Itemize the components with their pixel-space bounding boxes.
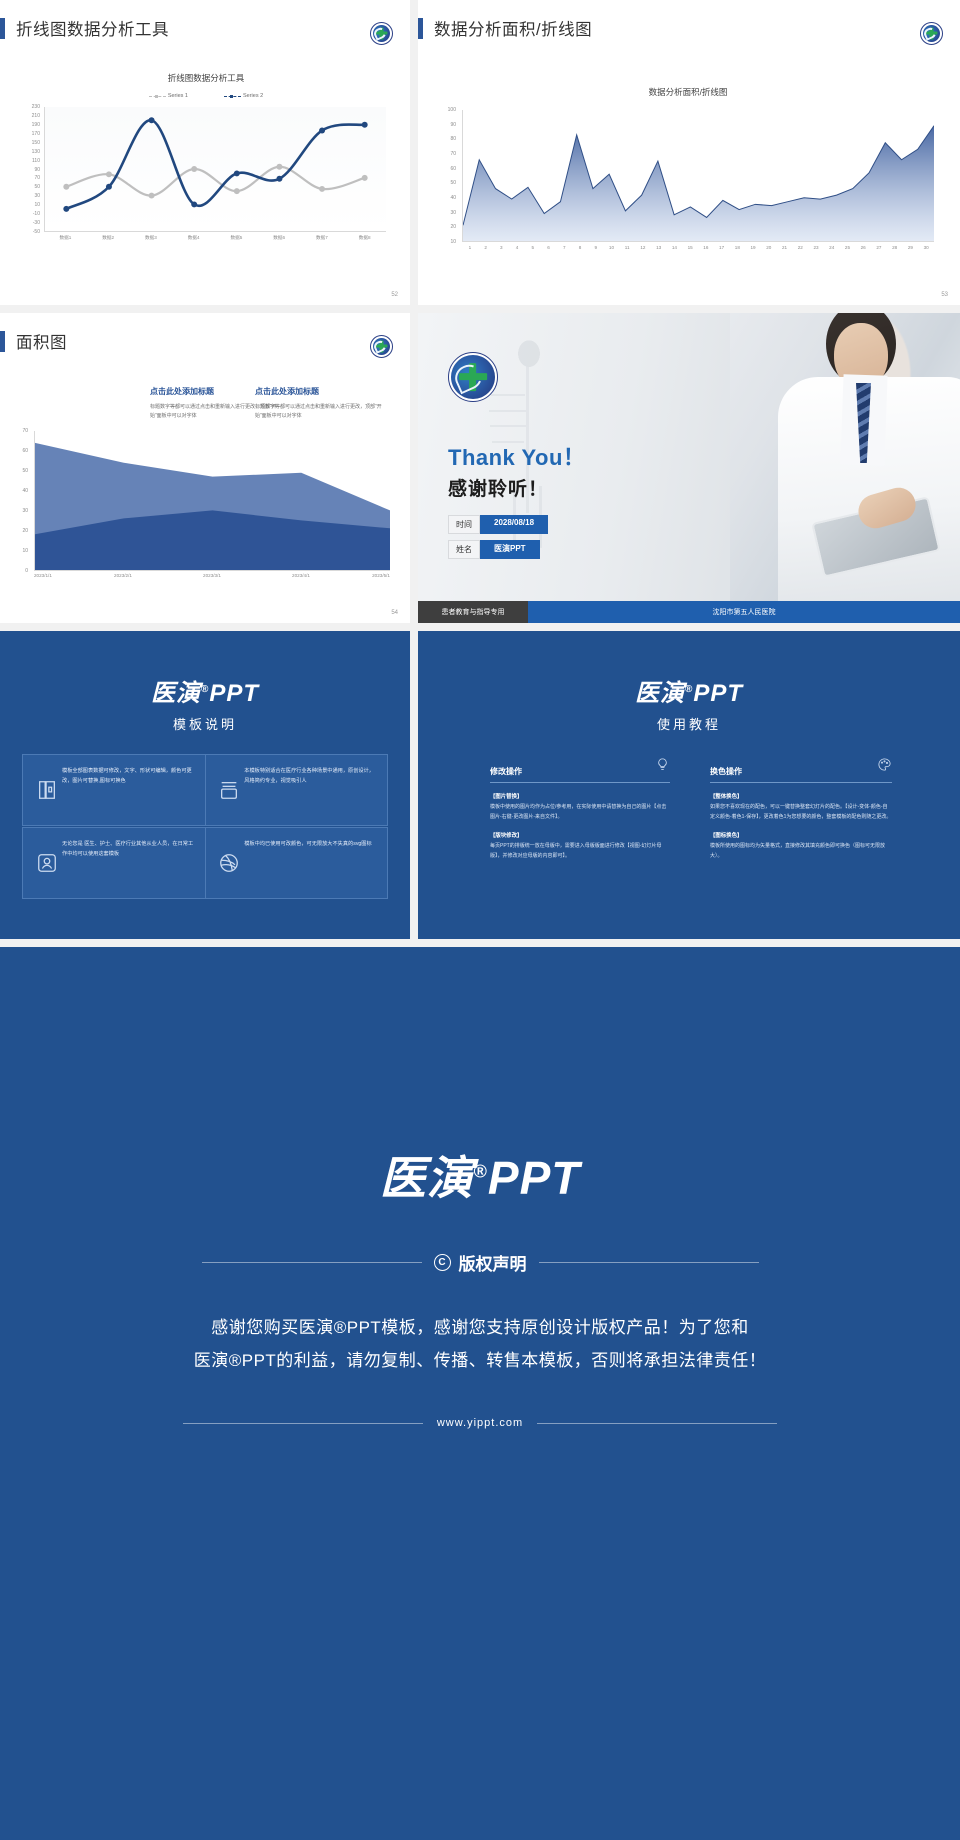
x-tick-label: 27 [876,245,881,250]
y-tick-label: 170 [32,131,40,137]
line-plot: 2302101901701501301109070503010-10-30-50… [20,107,392,247]
copyright-heading-row: C 版权声明 [0,1250,960,1275]
bulb-icon [655,757,670,777]
tutorial-section-heading: 【版块修改】 [490,831,670,839]
x-tick-label: 25 [845,245,850,250]
x-tick-label: 7 [563,245,566,250]
legend-swatch-icon [149,96,166,97]
slide-52-header: 折线图数据分析工具 [0,0,410,40]
x-tick-label: 23 [813,245,818,250]
y-tick-label: 150 [32,140,40,146]
tutorial-section: 【图标换色】 模板所使用的图标均为矢量格式，直接修改其填充颜色即可换色（图标可无… [710,831,892,861]
hospital-logo-icon [448,352,498,402]
x-tick-label: 11 [625,245,630,250]
legend-label: Series 2 [243,93,263,99]
stacked-area-chart: 706050403020100 2023/1/12023/2/12023/3/1… [8,423,398,603]
x-tick-label: 3 [500,245,503,250]
y-tick-label: 30 [34,193,40,199]
y-tick-label: -50 [33,229,40,235]
thank-you-chinese: 感谢聆听！ [448,474,585,501]
slide-number: 53 [941,292,948,298]
brand-name: 医演®PPT [151,680,259,707]
x-tick-label: 1 [469,245,472,250]
y-tick-label: 40 [450,195,456,201]
y-tick-label: 40 [22,488,28,494]
legend-label: Series 1 [168,93,188,99]
y-tick-label: 70 [22,428,28,434]
field-name: 姓名 医演PPT [448,540,548,559]
title-accent-bar [0,18,5,39]
x-tick-label: 6 [547,245,550,250]
x-tick-label: 数据4 [188,235,200,241]
description-block-2: 点击此处添加标题 标题数字等都可以通过点击和重新输入进行更改，顶部“开始”面板中… [255,386,390,422]
y-tick-label: 50 [34,184,40,190]
divider-right [537,1423,777,1424]
x-tick-label: 29 [908,245,913,250]
y-tick-label: 30 [22,508,28,514]
slide-line-chart[interactable]: 折线图数据分析工具 折线图数据分析工具 Series 1 Series 2 23… [0,0,410,305]
feature-card-4: 模板中均已使用可改颜色，可无限放大不失真的svg图标 [205,828,387,898]
description-heading: 点击此处添加标题 [255,386,390,397]
x-tick-label: 数据6 [273,235,285,241]
x-tick-label: 24 [829,245,834,250]
y-tick-label: -10 [33,211,40,217]
legend-item-series-2: Series 2 [224,93,263,99]
x-tick-label: 2023/1/1 [34,573,52,578]
x-tick-label: 数据8 [359,235,371,241]
x-tick-label: 数据7 [316,235,328,241]
x-tick-label: 2023/5/1 [372,573,390,578]
y-tick-label: 100 [448,107,456,113]
feature-card-text: 模板全部图表数据可修改，文字、形状可编辑，颜色可更改，图片可替换,图标可换色 [62,766,196,814]
chart-legend: Series 1 Series 2 [20,93,392,99]
copyright-heading-text: 版权声明 [459,1250,527,1275]
brand-lockup: 医演®PPT [418,673,960,708]
field-date: 时间 2028/08/18 [448,515,548,534]
feature-card-3: 无论您是 医生、护士、医疗行业其他从业人员，在日常工作中均可以使用这套模板 [23,828,205,898]
x-tick-label: 21 [782,245,787,250]
chart-title: 折线图数据分析工具 [20,72,392,84]
slide-footer: 患者教育与指导专用 沈阳市第五人民医院 [418,601,960,623]
y-tick-label: 10 [34,202,40,208]
stacked-area-plot: 706050403020100 2023/1/12023/2/12023/3/1… [8,423,398,593]
x-tick-label: 15 [688,245,693,250]
copyright-mark-icon: C [434,1254,451,1271]
y-tick-label: 0 [25,568,28,574]
doctor-photo [730,313,960,623]
x-tick-label: 数据2 [102,235,114,241]
slide-53-header: 数据分析面积/折线图 [418,0,960,40]
palette-icon [877,757,892,777]
x-tick-label: 28 [892,245,897,250]
page-title: 数据分析面积/折线图 [434,16,592,40]
tutorial-section-heading: 【图标换色】 [710,831,892,839]
slide-54-header: 面积图 [0,313,410,353]
copyright-heading: C 版权声明 [434,1250,527,1275]
thank-you-english: Thank You！ [448,440,585,472]
x-tick-label: 20 [766,245,771,250]
user-icon [32,839,62,887]
x-tick-label: 18 [735,245,740,250]
x-tick-label: 8 [579,245,582,250]
thank-you-text-block: Thank You！ 感谢聆听！ [448,440,585,501]
brand-lockup: 医演®PPT [0,673,410,708]
y-tick-label: 50 [450,180,456,186]
copyright-body: 感谢您购买医演®PPT模板，感谢您支持原创设计版权产品！为了您和 医演®PPT的… [0,1311,960,1377]
plot-area [462,110,934,242]
area-series-svg [463,110,934,241]
hospital-logo-icon [920,22,943,45]
footer-right-label: 沈阳市第五人民医院 [528,601,960,623]
slide-thank-you[interactable]: Thank You！ 感谢聆听！ 时间 2028/08/18 姓名 医演PPT … [418,313,960,623]
feature-card-row-1: 模板全部图表数据可修改，文字、形状可编辑，颜色可更改，图片可替换,图标可换色 本… [22,754,388,826]
tutorial-column-recolor: 换色操作 【整体换色】 如果您不喜欢现在的配色，可以一键替换整套幻灯片的配色。【… [710,757,892,861]
field-label: 姓名 [448,540,480,559]
y-tick-label: -30 [33,220,40,226]
x-tick-label: 16 [703,245,708,250]
tutorial-section-body: 每页PPT的排版统一放在母版中，需要进入母版版面进行修改【视图-幻灯片母版】，并… [490,842,670,861]
feature-card-text: 本模板特别适合在医疗行业各种场景中通用，原创设计，风格简约专业，视觉吸引人 [244,766,378,814]
meta-fields: 时间 2028/08/18 姓名 医演PPT [448,509,548,559]
copyright-url-row: www.yippt.com [0,1417,960,1429]
x-tick-label: 4 [516,245,519,250]
tutorial-column-edit: 修改操作 【图片替换】 模板中使用的图片均作为占位/参考用，在实际使用中请替换为… [490,757,670,861]
x-tick-label: 9 [594,245,597,250]
chart-title: 数据分析面积/折线图 [438,86,938,98]
book-icon [32,766,62,814]
x-tick-label: 30 [924,245,929,250]
x-tick-label: 17 [719,245,724,250]
x-tick-label: 10 [609,245,614,250]
tutorial-column-title: 换色操作 [710,766,742,777]
footer-left-label: 患者教育与指导专用 [418,601,528,623]
x-tick-label: 2023/3/1 [203,573,221,578]
field-value: 2028/08/18 [480,515,548,534]
tutorial-section-heading: 【整体换色】 [710,792,892,800]
y-tick-label: 90 [450,122,456,128]
x-axis-labels: 2023/1/12023/2/12023/3/12023/4/12023/5/1 [34,573,390,585]
box-icon [214,766,244,814]
slide-subtitle: 模板说明 [0,714,410,733]
plot-area [34,431,390,571]
slide-template-note[interactable]: 医演®PPT 模板说明 模板全部图表数据可修改，文字、形状可编辑，颜色可更改，图… [0,631,410,939]
slide-area-line-chart[interactable]: 数据分析面积/折线图 数据分析面积/折线图 100908070605040302… [418,0,960,305]
tutorial-section-body: 模板中使用的图片均作为占位/参考用，在实际使用中请替换为自己的图片【点击图片-右… [490,803,670,822]
x-axis-labels: 数据1数据2数据3数据4数据5数据6数据7数据8 [44,235,386,247]
y-tick-label: 10 [22,548,28,554]
tutorial-section-heading: 【图片替换】 [490,792,670,800]
x-tick-label: 2023/4/1 [292,573,310,578]
tutorial-section-body: 如果您不喜欢现在的配色，可以一键替换整套幻灯片的配色。【设计-变体-颜色-自定义… [710,803,892,822]
slide-subtitle: 使用教程 [418,714,960,733]
tutorial-column-header: 换色操作 [710,757,892,783]
y-tick-label: 190 [32,122,40,128]
y-tick-label: 20 [22,528,28,534]
y-tick-label: 60 [450,166,456,172]
tutorial-column-header: 修改操作 [490,757,670,783]
x-tick-label: 26 [861,245,866,250]
field-label: 时间 [448,515,480,534]
legend-item-series-1: Series 1 [149,93,188,99]
x-tick-label: 22 [798,245,803,250]
x-axis-labels: 1234567891011121314151617181920212223242… [462,245,934,257]
y-tick-label: 10 [450,239,456,245]
y-axis-labels: 706050403020100 [8,431,30,571]
slide-deck-page: 折线图数据分析工具 折线图数据分析工具 Series 1 Series 2 23… [0,0,960,1840]
x-tick-label: 13 [656,245,661,250]
x-tick-label: 19 [751,245,756,250]
website-url: www.yippt.com [437,1417,523,1429]
area-chart: 数据分析面积/折线图 100908070605040302010 1234567… [438,86,938,276]
y-tick-label: 60 [22,448,28,454]
feature-card-2: 本模板特别适合在医疗行业各种场景中通用，原创设计，风格简约专业，视觉吸引人 [205,755,387,825]
title-accent-bar [418,18,423,39]
y-tick-label: 130 [32,149,40,155]
x-tick-label: 12 [640,245,645,250]
slide-area-chart[interactable]: 面积图 点击此处添加标题 标题数字等都可以通过点击和重新输入进行更改，顶部“开始… [0,313,410,623]
y-tick-label: 80 [450,136,456,142]
area-plot: 100908070605040302010 123456789101112131… [438,110,938,270]
divider-right [539,1262,759,1263]
y-tick-label: 70 [450,151,456,157]
feature-card-text: 模板中均已使用可改颜色，可无限放大不失真的svg图标 [244,839,371,887]
y-tick-label: 90 [34,167,40,173]
x-tick-label: 5 [532,245,535,250]
slide-copyright[interactable]: 医演®PPT C 版权声明 感谢您购买医演®PPT模板，感谢您支持原创设计版权产… [0,947,960,1840]
dribbble-icon [214,839,244,887]
hospital-logo-icon [370,335,393,358]
y-tick-label: 210 [32,113,40,119]
y-tick-label: 30 [450,210,456,216]
plot-area [44,107,386,232]
slide-number: 52 [391,292,398,298]
y-axis-labels: 2302101901701501301109070503010-10-30-50 [22,107,42,232]
tutorial-section: 【版块修改】 每页PPT的排版统一放在母版中，需要进入母版版面进行修改【视图-幻… [490,831,670,861]
brand-name: 医演®PPT [635,680,743,707]
tutorial-section-body: 模板所使用的图标均为矢量格式，直接修改其填充颜色即可换色（图标可无限放大）。 [710,842,892,861]
tutorial-section: 【图片替换】 模板中使用的图片均作为占位/参考用，在实际使用中请替换为自己的图片… [490,792,670,822]
x-tick-label: 2023/2/1 [114,573,132,578]
x-tick-label: 数据5 [231,235,243,241]
y-axis-labels: 100908070605040302010 [438,110,458,242]
y-tick-label: 230 [32,104,40,110]
line-series-svg [45,107,386,231]
divider-left [202,1262,422,1263]
legend-swatch-icon [224,96,241,97]
feature-card-1: 模板全部图表数据可修改，文字、形状可编辑，颜色可更改，图片可替换,图标可换色 [23,755,205,825]
page-title: 折线图数据分析工具 [16,16,169,40]
slide-number: 54 [391,610,398,616]
tutorial-column-title: 修改操作 [490,766,522,777]
x-tick-label: 数据3 [145,235,157,241]
tutorial-section: 【整体换色】 如果您不喜欢现在的配色，可以一键替换整套幻灯片的配色。【设计-变体… [710,792,892,822]
y-tick-label: 20 [450,224,456,230]
feature-card-text: 无论您是 医生、护士、医疗行业其他从业人员，在日常工作中均可以使用这套模板 [62,839,196,887]
x-tick-label: 数据1 [60,235,72,241]
divider-left [183,1423,423,1424]
y-tick-label: 110 [32,158,40,164]
y-tick-label: 70 [34,175,40,181]
feature-card-row-2: 无论您是 医生、护士、医疗行业其他从业人员，在日常工作中均可以使用这套模板 模板… [22,827,388,899]
x-tick-label: 14 [672,245,677,250]
title-accent-bar [0,331,5,352]
hospital-logo-icon [370,22,393,45]
y-tick-label: 50 [22,468,28,474]
field-value: 医演PPT [480,540,540,559]
copyright-line-1: 感谢您购买医演®PPT模板，感谢您支持原创设计版权产品！为了您和 [0,1311,960,1344]
brand-name: 医演®PPT [0,1142,960,1208]
description-body: 标题数字等都可以通过点击和重新输入进行更改，顶部“开始”面板中可以对字体 [255,403,390,422]
copyright-line-2: 医演®PPT的利益，请勿复制、传播、转售本模板，否则将承担法律责任！ [0,1344,960,1377]
slide-tutorial[interactable]: 医演®PPT 使用教程 修改操作 【图片替换】 模板中使用的图片均作为占位/参考… [418,631,960,939]
line-chart: 折线图数据分析工具 Series 1 Series 2 230210190170… [20,72,392,282]
stacked-area-svg [35,431,390,570]
x-tick-label: 2 [484,245,487,250]
page-title: 面积图 [16,329,67,353]
